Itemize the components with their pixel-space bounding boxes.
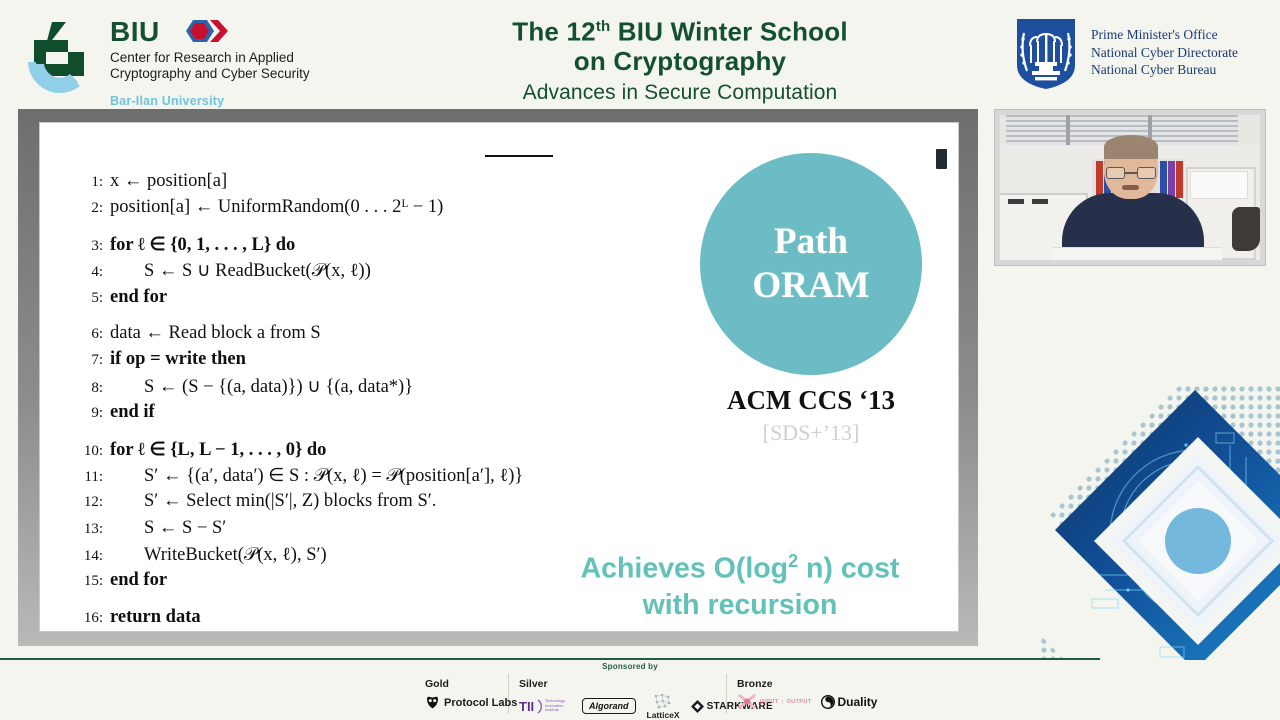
sponsors-footer: Sponsored by Gold Silver Bronze Protocol… (0, 660, 1280, 720)
achieves-line2: with recursion (540, 587, 940, 623)
algorithm-line-number: 16: (80, 610, 110, 627)
cursor-mark-icon (936, 149, 947, 169)
duality-icon (821, 695, 835, 709)
sponsored-by-label: Sponsored by (560, 662, 700, 671)
algorithm-line: 2:position[a] ← UniformRandom(0 . . . 2ᴸ… (80, 197, 600, 222)
achieves-post: n) cost (798, 553, 899, 585)
algorithm-line: 14:WriteBucket(𝒫(x, ℓ), S′) (80, 544, 600, 569)
algorithm-line: 5:end for (80, 287, 600, 312)
algorithm-line-number: 4: (80, 264, 110, 281)
io-separator: | (782, 699, 784, 705)
page-header: BIU Center for Research in Applied Crypt… (0, 0, 1280, 108)
input-output-icon (737, 693, 757, 710)
starkware-icon (691, 700, 704, 713)
tii-icon: TII (519, 697, 543, 716)
algorithm-line: 4:S ← S ∪ ReadBucket(𝒫(x, ℓ)) (80, 260, 600, 285)
algorithm-line: 12:S′ ← Select min(|S′|, Z) blocks from … (80, 491, 600, 516)
sponsor-algorand[interactable]: Algorand (582, 698, 636, 714)
algorithm-line-code: end for (110, 287, 167, 308)
algorithm-line-code: end for (110, 570, 167, 591)
algorithm-line-code: data ← Read block a from S (110, 323, 321, 344)
algorithm-line-number: 14: (80, 548, 110, 565)
sponsor-tii[interactable]: TII Technology Innovation Institute (519, 697, 571, 716)
gov-line-1: Prime Minister's Office (1091, 26, 1271, 44)
algorithm-line-number: 3: (80, 238, 110, 255)
achieves-line1: Achieves O(log2 n) cost (540, 543, 940, 587)
algorithm-line-code: S ← (S − {(a, data)}) ∪ {(a, data*)} (110, 376, 413, 398)
book (1168, 161, 1175, 198)
biu-university: Bar-Ilan University (110, 94, 224, 108)
tii-sub3: Institute (545, 708, 571, 712)
algorithm-line-number: 2: (80, 200, 110, 217)
event-title-line2: on Cryptography (390, 47, 970, 76)
sponsor-duality[interactable]: Duality (821, 695, 877, 709)
path-oram-line1: Path (774, 220, 848, 264)
speaker-mouth (1122, 185, 1139, 190)
algorithm-line-code: for ℓ ∈ {0, 1, . . . , L} do (110, 234, 295, 256)
biu-diamond-icon (180, 18, 230, 44)
algorithm-line: 10:for ℓ ∈ {L, L − 1, . . . , 0} do (80, 439, 600, 464)
algorithm-line: 15:end for (80, 570, 600, 595)
speaker-glasses-icon (1106, 167, 1156, 179)
tier-label-silver: Silver (519, 678, 548, 690)
algorithm-line-code: return data (110, 607, 201, 628)
speaker-video-panel[interactable] (995, 110, 1265, 265)
algorithm-line-number: 10: (80, 443, 110, 460)
sponsor-name-input: INPUT (760, 699, 779, 705)
biu-subtitle-line2: Cryptography and Cyber Security (110, 66, 360, 82)
sponsor-latticex[interactable]: LatticeX (647, 692, 680, 720)
algorithm-title-rule (485, 155, 553, 157)
algorithm-line-number: 12: (80, 494, 110, 511)
algorithm-line: 16:return data (80, 607, 600, 631)
printer (1190, 171, 1248, 199)
biu-logo-block: BIU Center for Research in Applied Crypt… (22, 14, 352, 100)
event-title-line1: The 12th BIU Winter School (390, 12, 970, 47)
algorithm-listing: 1:x ← position[a]2:position[a] ← Uniform… (80, 171, 600, 631)
gov-line-3: National Cyber Bureau (1091, 61, 1271, 79)
tier-label-bronze: Bronze (737, 678, 773, 690)
tii-subtext: Technology Innovation Institute (545, 699, 571, 712)
sponsor-protocol-labs[interactable]: Protocol Labs (425, 695, 517, 710)
path-oram-line2: ORAM (752, 264, 869, 308)
algorithm-line-code: S′ ← Select min(|S′|, Z) blocks from S′. (110, 491, 436, 512)
algorithm-line-number: 5: (80, 290, 110, 307)
svg-text:TII: TII (519, 699, 534, 714)
biu-microscope-logo-icon (22, 18, 100, 94)
chair (1232, 207, 1260, 251)
algorithm-line-code: S ← S − S′ (110, 518, 226, 539)
cabinet-handle (1008, 199, 1024, 204)
speaker-video-feed[interactable] (1000, 115, 1260, 260)
algorithm-line: 13:S ← S − S′ (80, 518, 600, 543)
algorithm-line-code: x ← position[a] (110, 171, 227, 192)
title-ordinal-suffix: th (596, 18, 611, 35)
sponsor-name: Protocol Labs (444, 697, 517, 709)
blinds-divider-1 (1066, 115, 1070, 147)
sponsor-input-output[interactable]: INPUT | OUTPUT (737, 693, 811, 710)
tier-label-gold: Gold (425, 678, 449, 690)
silver-sponsor-list: TII Technology Innovation Institute Algo… (519, 692, 773, 720)
sponsor-name: Algorand (589, 701, 629, 711)
algorithm-line-number: 15: (80, 573, 110, 590)
algorithm-line-number: 11: (80, 469, 110, 486)
algorithm-line: 3:for ℓ ∈ {0, 1, . . . , L} do (80, 234, 600, 259)
algorithm-line-number: 7: (80, 352, 110, 369)
cabinet-handle (1032, 199, 1048, 204)
event-title: The 12th BIU Winter School on Cryptograp… (390, 12, 970, 106)
algorithm-line: 11:S′ ← {(a′, data′) ∈ S : 𝒫(x, ℓ) = 𝒫(p… (80, 465, 600, 490)
algorithm-line: 9:end if (80, 402, 600, 427)
algorithm-line-code: S ← S ∪ ReadBucket(𝒫(x, ℓ)) (110, 260, 371, 282)
biu-subtitle-line1: Center for Research in Applied (110, 50, 360, 66)
gov-logo-block: Prime Minister's Office National Cyber D… (1015, 17, 1265, 93)
algorithm-line: 1:x ← position[a] (80, 171, 600, 196)
algorithm-line-code: position[a] ← UniformRandom(0 . . . 2ᴸ −… (110, 197, 443, 218)
presentation-slide-frame[interactable]: 1:x ← position[a]2:position[a] ← Uniform… (18, 109, 978, 646)
gov-logo-text: Prime Minister's Office National Cyber D… (1091, 26, 1271, 79)
algorithm-line-code: S′ ← {(a′, data′) ∈ S : 𝒫(x, ℓ) = 𝒫(posi… (110, 465, 523, 487)
path-oram-badge: Path ORAM (700, 153, 922, 375)
achieves-exponent: 2 (788, 551, 798, 571)
algorithm-line-code: WriteBucket(𝒫(x, ℓ), S′) (110, 544, 327, 566)
algorithm-line-number: 13: (80, 521, 110, 538)
biu-wordmark: BIU (110, 16, 160, 48)
algorithm-line: 6:data ← Read block a from S (80, 323, 600, 348)
achieves-note: Achieves O(log2 n) cost with recursion (540, 543, 940, 623)
algorithm-line: 7:if op = write then (80, 349, 600, 374)
achieves-pre: Achieves O(log (581, 553, 788, 585)
book (1176, 161, 1183, 198)
title-post: BIU Winter School (610, 17, 847, 47)
latticex-icon (652, 692, 674, 710)
biu-subtitle: Center for Research in Applied Cryptogra… (110, 50, 360, 81)
algorithm-line-code: for ℓ ∈ {L, L − 1, . . . , 0} do (110, 439, 326, 461)
algorithm-line: 8:S ← (S − {(a, data)}) ∪ {(a, data*)} (80, 376, 600, 401)
gov-line-2: National Cyber Directorate (1091, 44, 1271, 62)
sponsor-name: Duality (837, 695, 877, 709)
sponsor-name: LatticeX (647, 710, 680, 720)
event-subtitle: Advances in Secure Computation (390, 80, 970, 106)
algorithm-line-code: if op = write then (110, 349, 246, 370)
bronze-sponsor-list: INPUT | OUTPUT Duality (737, 693, 877, 710)
algorithm-line-number: 9: (80, 405, 110, 422)
presentation-slide[interactable]: 1:x ← position[a]2:position[a] ← Uniform… (40, 123, 958, 631)
israel-state-emblem-icon (1015, 17, 1077, 91)
algorithm-line-number: 8: (80, 380, 110, 397)
speaker-hair (1104, 135, 1158, 159)
book (1096, 161, 1103, 198)
venue-label: ACM CCS ‘13 (685, 385, 937, 416)
title-pre: The 12 (512, 17, 596, 47)
protocol-labs-icon (425, 695, 440, 710)
algorithm-line-number: 1: (80, 174, 110, 191)
desk-edge (1052, 247, 1222, 260)
algorithm-line-code: end if (110, 402, 155, 423)
algorithm-line-number: 6: (80, 326, 110, 343)
citation-label: [SDS+’13] (685, 420, 937, 446)
sponsor-name-output: OUTPUT (786, 699, 811, 705)
